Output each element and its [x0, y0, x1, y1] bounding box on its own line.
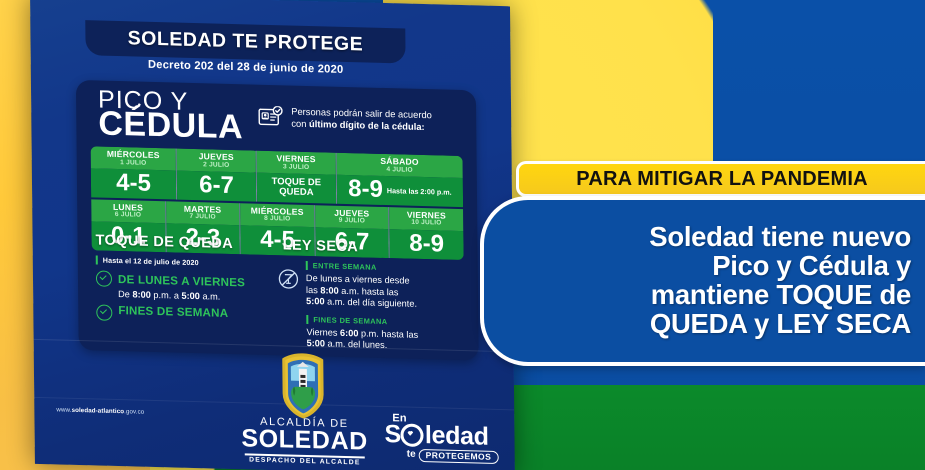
- toque-item: DE LUNES A VIERNES De 8:00 p.m. a 5:00 a…: [96, 269, 276, 304]
- soledad-coat-of-arms-icon: [274, 352, 333, 420]
- callout-headline-panel: Soledad tiene nuevo Pico y Cédula y mant…: [480, 196, 925, 366]
- toque-item-detail: De 8:00 p.m. a 5:00 a.m.: [118, 289, 245, 303]
- heart-o-icon: [401, 423, 424, 447]
- schedule-cell: MIÉRCOLES 1 JULIO 4-5: [91, 146, 178, 199]
- brand-soledad: Sledad: [384, 422, 509, 450]
- brand-protegemos: PROTEGEMOS: [419, 449, 499, 464]
- schedule-cell: JUEVES 2 JULIO 6-7: [177, 149, 257, 202]
- headline-line-4: QUEDA y LEY SECA: [649, 310, 911, 339]
- headline-line-2: Pico y Cédula y: [649, 252, 911, 281]
- day-note: Hasta las 2:00 p.m.: [387, 186, 452, 197]
- id-card-check-icon: [258, 106, 284, 129]
- day-digits: 4-5: [116, 171, 151, 196]
- cedula-note: Personas podrán salir de acuerdo con últ…: [258, 105, 458, 135]
- toque-item: FINES DE SEMANA: [96, 303, 276, 325]
- day-date: 6 JULIO: [92, 211, 164, 221]
- toque-valid-until: Hasta el 12 de julio de 2020: [96, 255, 276, 269]
- schedule-cell: SÁBADO 4 JULIO 8-9 Hasta las 2:00 p.m.: [336, 153, 463, 207]
- toque-item-title: FINES DE SEMANA: [118, 304, 228, 320]
- promo-banner: SOLEDAD TE PROTEGE Decreto 202 del 28 de…: [0, 0, 925, 470]
- title-line-2: CÉDULA: [98, 109, 243, 144]
- day-digits: 8-9: [348, 177, 383, 202]
- no-alcohol-icon: [278, 268, 299, 290]
- day-date: 7 JULIO: [167, 213, 239, 223]
- cedula-note-text: Personas podrán salir de acuerdo con últ…: [291, 106, 432, 135]
- callout-headline: Soledad tiene nuevo Pico y Cédula y mant…: [649, 223, 911, 339]
- poster-flyer: SOLEDAD TE PROTEGE Decreto 202 del 28 de…: [30, 0, 515, 470]
- en-soledad-te-protegemos-logo: En Sledad te PROTEGEMOS: [384, 413, 509, 464]
- day-date: 10 JULIO: [391, 219, 463, 229]
- ley-seca-tag: FINES DE SEMANA: [306, 315, 468, 328]
- poster-header-pill: SOLEDAD TE PROTEGE: [85, 20, 405, 63]
- schedule-cell: VIERNES 3 JULIO TOQUE DE QUEDA: [257, 151, 337, 204]
- ley-seca-tag: ENTRE SEMANA: [306, 261, 417, 273]
- day-date: 9 JULIO: [316, 217, 388, 227]
- day-date: 3 JULIO: [258, 162, 335, 172]
- website-url: www.soledad-atlantico.gov.co: [56, 406, 144, 415]
- poster-main-card: PICO Y CÉDULA: [76, 80, 479, 361]
- alcaldia-logo: ALCALDÍA DE SOLEDAD DESPACHO DEL ALCALDE: [234, 416, 374, 467]
- headline-line-3: mantiene TOQUE de: [649, 281, 911, 310]
- headline-line-1: Soledad tiene nuevo: [649, 223, 911, 252]
- callout-kicker-text: PARA MITIGAR LA PANDEMIA: [576, 168, 867, 191]
- toque-de-queda-section: Hasta el 12 de julio de 2020 DE LUNES A …: [96, 255, 277, 329]
- ley-seca-section: ENTRE SEMANA De lunes a viernes desde la…: [278, 260, 469, 354]
- cedula-note-line2-prefix: con: [291, 118, 309, 129]
- toque-item-title: DE LUNES A VIERNES: [118, 273, 245, 289]
- ley-seca-text: De lunes a viernes desde las 8:00 a.m. h…: [306, 273, 417, 311]
- day-date: 2 JULIO: [178, 160, 255, 170]
- cedula-note-line2-bold: último dígito de la cédula:: [309, 118, 425, 132]
- day-digits: 6-7: [199, 173, 234, 198]
- schedule-row-1: MIÉRCOLES 1 JULIO 4-5 JUEVES 2 JULIO 6-7: [91, 146, 464, 207]
- pico-y-cedula-title: PICO Y CÉDULA: [98, 88, 243, 143]
- day-date: 1 JULIO: [92, 158, 175, 168]
- day-digits: TOQUE DE QUEDA: [257, 177, 336, 200]
- check-circle-icon: [96, 270, 112, 286]
- alcaldia-line-3: DESPACHO DEL ALCALDE: [235, 457, 375, 467]
- check-circle-icon: [96, 304, 112, 320]
- alcaldia-line-2: SOLEDAD: [234, 426, 374, 455]
- brand-te: te: [407, 450, 416, 460]
- callout-kicker-banner: PARA MITIGAR LA PANDEMIA: [516, 161, 925, 197]
- poster-header-title: SOLEDAD TE PROTEGE: [128, 27, 364, 56]
